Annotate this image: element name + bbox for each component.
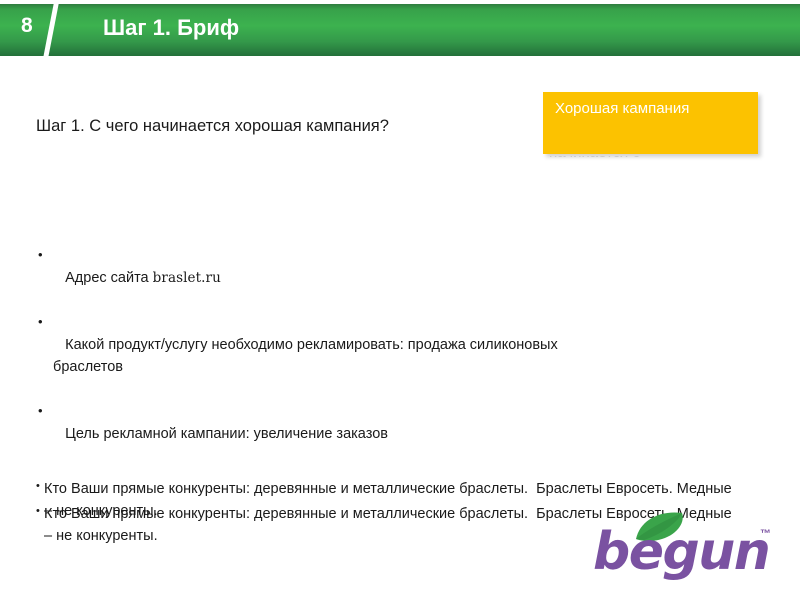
question-heading: Шаг 1. С чего начинается хорошая кампани… bbox=[36, 114, 456, 140]
bullet-text: Цель рекламной кампании: увеличение зака… bbox=[65, 426, 388, 442]
slide-header-band: 8 Шаг 1. Бриф bbox=[0, 4, 800, 56]
list-item: Какой продукт/услугу необходимо рекламир… bbox=[38, 312, 718, 400]
callout-clipped-text: начинается с bbox=[549, 156, 759, 166]
page-number: 8 bbox=[21, 15, 33, 36]
callout-text: Хорошая кампания bbox=[555, 98, 750, 120]
logo-trademark: ™ bbox=[760, 528, 771, 540]
site-url: braslet.ru bbox=[153, 270, 221, 286]
list-item: Адрес сайта braslet.ru bbox=[38, 245, 718, 311]
page-title: Шаг 1. Бриф bbox=[103, 15, 239, 41]
brief-bullet-list: Адрес сайта braslet.ru Какой продукт/усл… bbox=[38, 245, 718, 468]
bullet-text: Адрес сайта bbox=[65, 270, 153, 286]
bullet-text: Какой продукт/услугу необходимо рекламир… bbox=[49, 337, 558, 375]
callout-clipped-label: начинается с bbox=[549, 156, 759, 160]
callout-box: Хорошая кампания bbox=[543, 92, 758, 154]
list-item: Цель рекламной кампании: увеличение зака… bbox=[38, 401, 718, 467]
diagonal-slash-icon bbox=[42, 2, 59, 64]
begun-logo: begun ™ bbox=[593, 512, 783, 588]
logo-wordmark: begun bbox=[593, 526, 769, 578]
